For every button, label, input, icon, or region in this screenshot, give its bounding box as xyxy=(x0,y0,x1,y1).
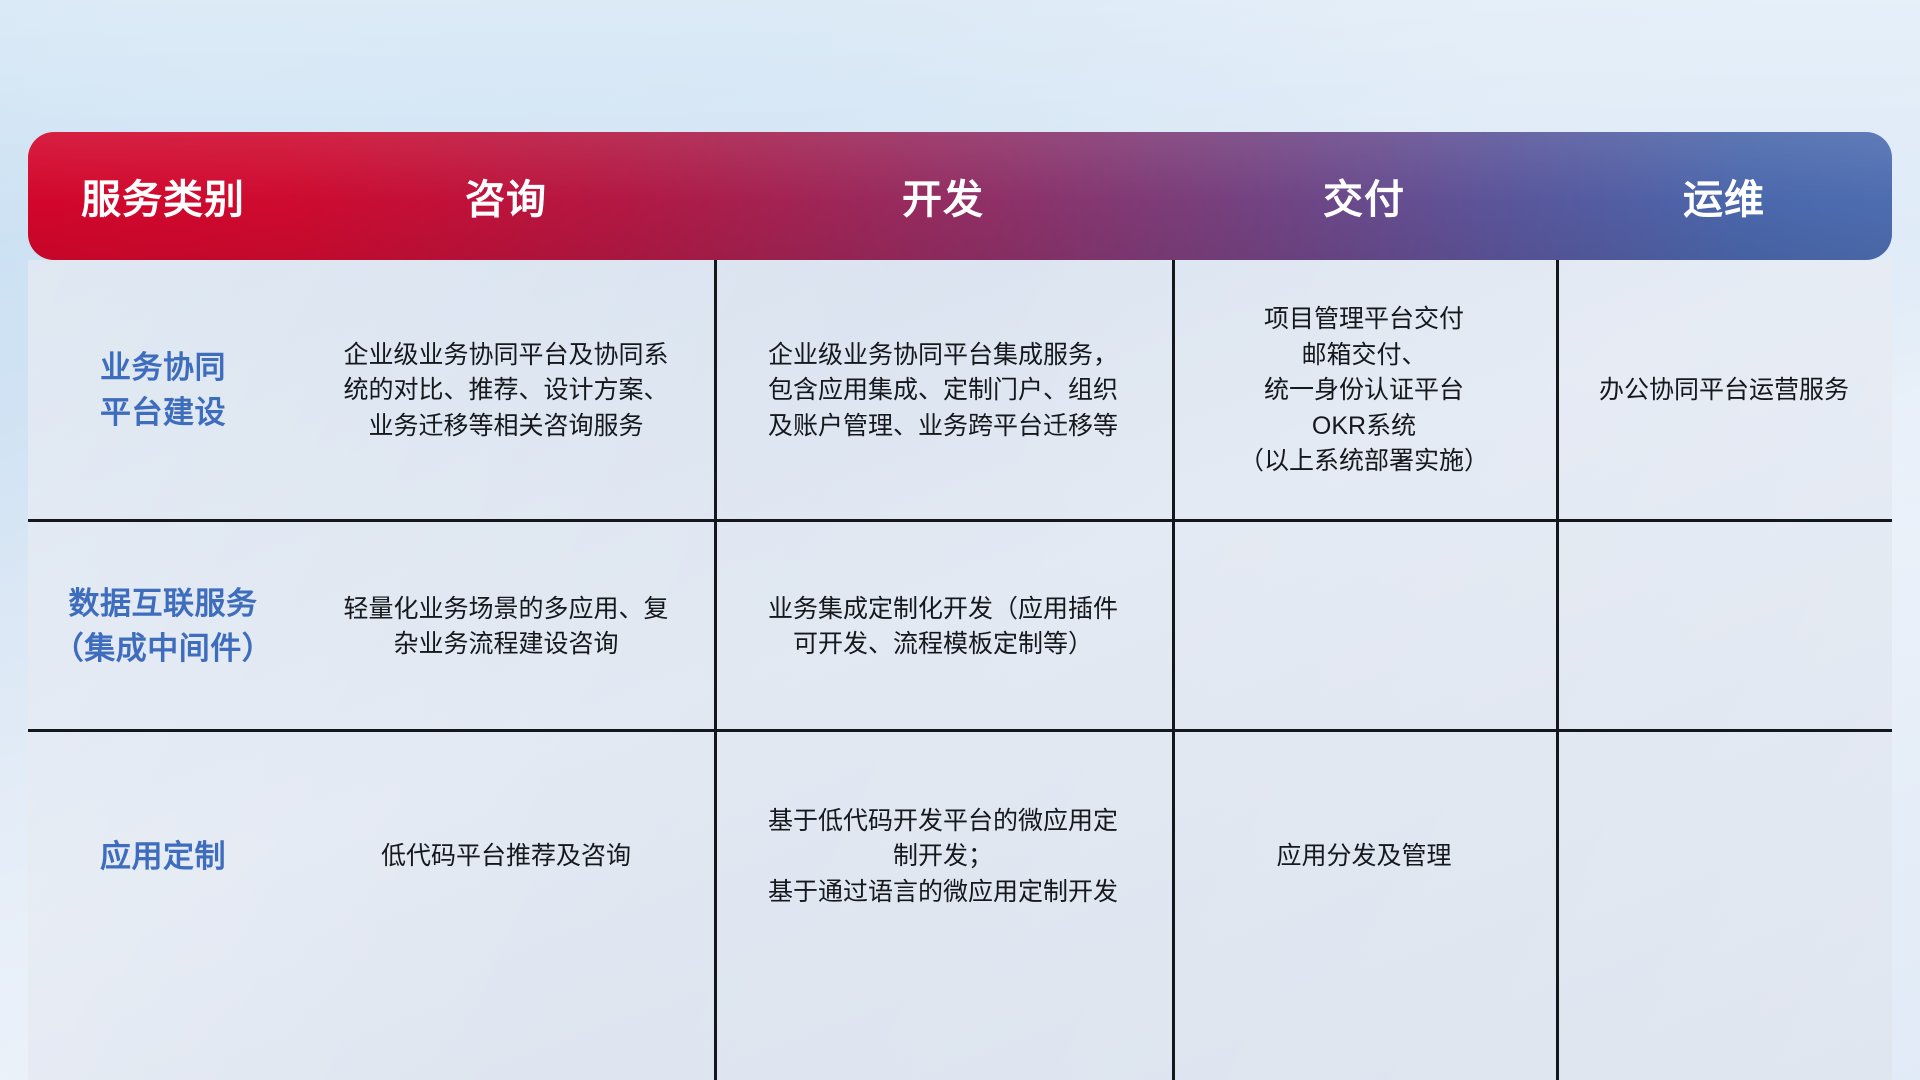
column-header-consulting: 咨询 xyxy=(298,167,714,225)
column-header-service-category: 服务类别 xyxy=(28,167,298,225)
table-row: 业务协同 平台建设 企业级业务协同平台及协同系 统的对比、推荐、设计方案、 业务… xyxy=(28,260,1892,522)
column-header-operations: 运维 xyxy=(1556,167,1892,225)
table-row: 应用定制 低代码平台推荐及咨询 基于低代码开发平台的微应用定 制开发； 基于通过… xyxy=(28,732,1892,982)
cell-consulting: 轻量化业务场景的多应用、复 杂业务流程建设咨询 xyxy=(298,522,714,732)
cell-operations xyxy=(1556,732,1892,982)
service-matrix-table: 服务类别 咨询 开发 交付 运维 业务协同 平台建设 企业级业务协同平台及协同系… xyxy=(28,132,1892,952)
cell-consulting: 低代码平台推荐及咨询 xyxy=(298,732,714,982)
column-divider-3 xyxy=(1556,260,1559,1080)
cell-category: 业务协同 平台建设 xyxy=(28,260,298,522)
cell-consulting: 企业级业务协同平台及协同系 统的对比、推荐、设计方案、 业务迁移等相关咨询服务 xyxy=(298,260,714,522)
column-header-delivery: 交付 xyxy=(1172,167,1556,225)
column-divider-2 xyxy=(1172,260,1175,1080)
slide-canvas: 服务类别 咨询 开发 交付 运维 业务协同 平台建设 企业级业务协同平台及协同系… xyxy=(0,0,1920,1080)
column-header-development: 开发 xyxy=(714,167,1172,225)
cell-development: 基于低代码开发平台的微应用定 制开发； 基于通过语言的微应用定制开发 xyxy=(714,732,1172,982)
cell-delivery: 项目管理平台交付 邮箱交付、 统一身份认证平台 OKR系统 （以上系统部署实施） xyxy=(1172,260,1556,522)
cell-delivery: 应用分发及管理 xyxy=(1172,732,1556,982)
cell-development: 企业级业务协同平台集成服务， 包含应用集成、定制门户、组织 及账户管理、业务跨平… xyxy=(714,260,1172,522)
column-divider-1 xyxy=(714,260,717,1080)
cell-operations: 办公协同平台运营服务 xyxy=(1556,260,1892,522)
cell-operations xyxy=(1556,522,1892,732)
cell-delivery xyxy=(1172,522,1556,732)
table-row: 数据互联服务 （集成中间件） 轻量化业务场景的多应用、复 杂业务流程建设咨询 业… xyxy=(28,522,1892,732)
table-body: 业务协同 平台建设 企业级业务协同平台及协同系 统的对比、推荐、设计方案、 业务… xyxy=(28,260,1892,1080)
cell-development: 业务集成定制化开发（应用插件 可开发、流程模板定制等） xyxy=(714,522,1172,732)
table-header-row: 服务类别 咨询 开发 交付 运维 xyxy=(28,132,1892,260)
cell-category: 数据互联服务 （集成中间件） xyxy=(28,522,298,732)
cell-category: 应用定制 xyxy=(28,732,298,982)
